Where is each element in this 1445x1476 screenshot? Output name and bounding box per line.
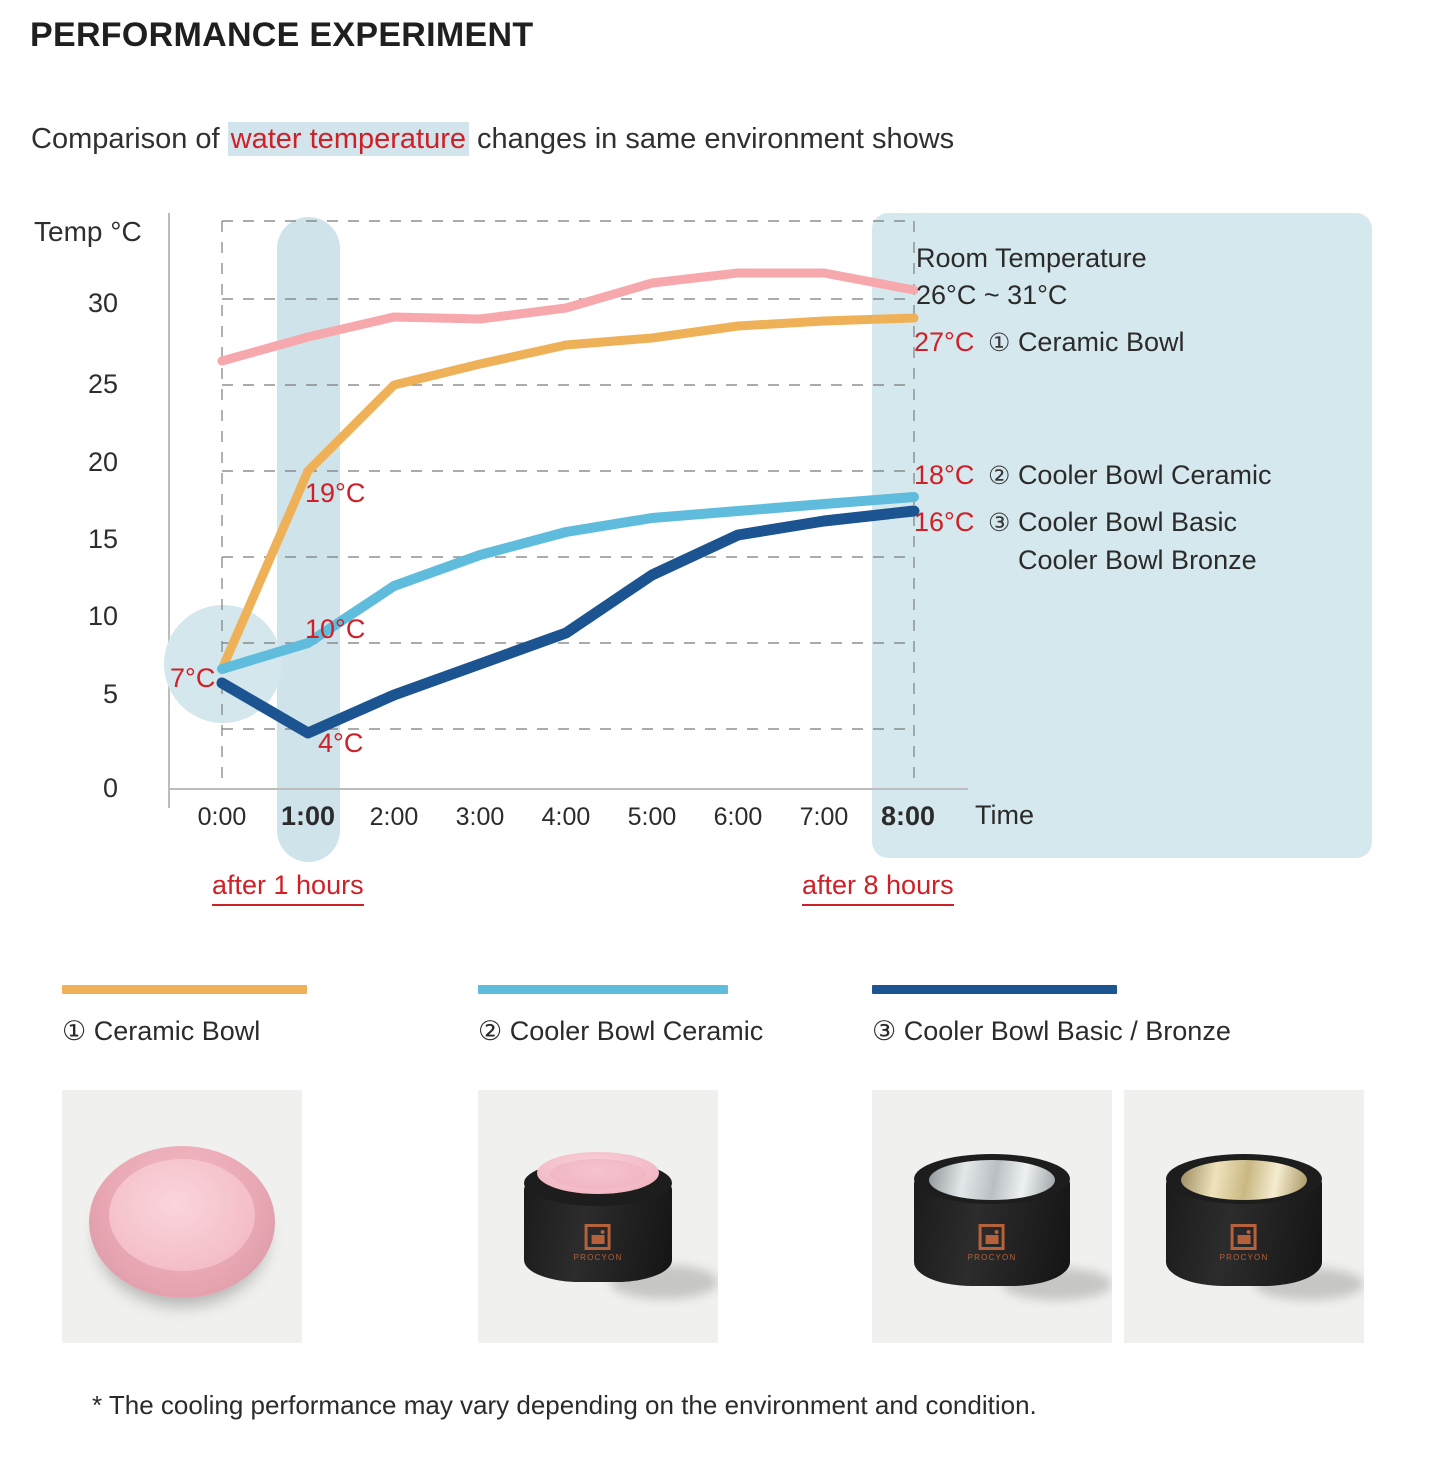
legend-item-ceramic-bowl: ① Ceramic Bowl	[62, 985, 307, 1047]
x-tick-1: 1:00	[268, 801, 348, 832]
chart-legend: ① Ceramic Bowl ② Cooler Bowl Ceramic ③ C…	[0, 975, 1445, 1065]
marker-circle-3: ③	[988, 508, 1010, 538]
cooler-bowl-basic-image: PROCYON	[872, 1090, 1112, 1343]
after-1-hours-label: after 1 hours	[212, 870, 364, 906]
room-temperature-range: 26°C ~ 31°C	[916, 280, 1067, 311]
cooler-bowl-bronze-image: PROCYON	[1124, 1090, 1364, 1343]
legend-swatch-cooler-bowl-ceramic	[478, 985, 728, 994]
x-tick-6: 6:00	[698, 803, 778, 832]
x-tick-5: 5:00	[612, 803, 692, 832]
product-photo-row: PROCYON PROCYON	[0, 1090, 1445, 1360]
x-axis-title: Time	[975, 800, 1034, 831]
endpoint-label-cooler-bronze: Cooler Bowl Bronze	[1018, 545, 1257, 576]
procyon-wordmark: PROCYON	[968, 1253, 1017, 1262]
endpoint-label-cooler-ceramic: ② Cooler Bowl Ceramic	[988, 460, 1272, 491]
photo-ceramic-bowl	[62, 1090, 302, 1343]
room-temperature-title: Room Temperature	[916, 243, 1147, 274]
callout-19c: 19°C	[305, 478, 365, 509]
marker-circle-1: ①	[988, 328, 1010, 358]
y-tick-10: 10	[58, 601, 118, 632]
endpoint-label-ceramic: ① Ceramic Bowl	[988, 327, 1184, 358]
x-tick-8: 8:00	[868, 801, 948, 832]
after-8-hours-label: after 8 hours	[802, 870, 954, 906]
footnote: * The cooling performance may vary depen…	[92, 1390, 1037, 1421]
legend-swatch-cooler-bowl-basic-bronze	[872, 985, 1117, 994]
y-tick-5: 5	[58, 679, 118, 710]
marker-circle-2: ②	[988, 461, 1010, 491]
y-axis-title: Temp °C	[34, 216, 142, 248]
callout-7c: 7°C	[170, 663, 215, 694]
procyon-wordmark: PROCYON	[1220, 1253, 1269, 1262]
procyon-mark-icon	[979, 1224, 1005, 1250]
x-tick-0: 0:00	[182, 803, 262, 832]
legend-label-cooler-bowl-ceramic: ② Cooler Bowl Ceramic	[478, 1016, 728, 1047]
procyon-wordmark: PROCYON	[574, 1253, 623, 1262]
ceramic-bowl-body	[89, 1146, 275, 1298]
endpoint-label-cooler-basic: ③ Cooler Bowl Basic	[988, 507, 1237, 538]
photo-cooler-bowl-ceramic: PROCYON	[478, 1090, 718, 1343]
legend-item-cooler-bowl-basic-bronze: ③ Cooler Bowl Basic / Bronze	[872, 985, 1117, 1047]
y-tick-30: 30	[58, 288, 118, 319]
procyon-mark-icon	[1231, 1224, 1257, 1250]
x-tick-3: 3:00	[440, 803, 520, 832]
x-tick-7: 7:00	[784, 803, 864, 832]
x-tick-4: 4:00	[526, 803, 606, 832]
y-tick-15: 15	[58, 524, 118, 555]
endpoint-value-cooler-ceramic: 18°C	[914, 460, 974, 491]
subtitle: Comparison of water temperature changes …	[31, 123, 954, 156]
y-tick-0: 0	[58, 773, 118, 804]
performance-experiment-infographic: PERFORMANCE EXPERIMENT Comparison of wat…	[0, 0, 1445, 1476]
procyon-logo-cooler-bronze: PROCYON	[1220, 1224, 1269, 1262]
procyon-mark-icon	[585, 1224, 611, 1250]
photo-cooler-bowl-bronze: PROCYON	[1124, 1090, 1364, 1343]
cooler-bowl-ceramic-image: PROCYON	[478, 1090, 718, 1343]
procyon-logo-cooler-ceramic: PROCYON	[574, 1224, 623, 1262]
temperature-line-chart: Temp °C 30 25 20 15 10 5 0	[0, 195, 1445, 875]
x-tick-2: 2:00	[354, 803, 434, 832]
ceramic-bowl-cavity	[109, 1159, 255, 1271]
endpoint-value-cooler-basic: 16°C	[914, 507, 974, 538]
cooler-ceramic-pink-cavity	[550, 1159, 646, 1189]
procyon-logo-cooler-basic: PROCYON	[968, 1224, 1017, 1262]
legend-swatch-ceramic-bowl	[62, 985, 307, 994]
legend-label-cooler-bowl-basic-bronze: ③ Cooler Bowl Basic / Bronze	[872, 1016, 1117, 1047]
endpoint-value-ceramic: 27°C	[914, 327, 974, 358]
y-tick-20: 20	[58, 447, 118, 478]
page-title: PERFORMANCE EXPERIMENT	[30, 16, 533, 55]
endpoint-label-cooler-basic-text: Cooler Bowl Basic	[1018, 507, 1237, 537]
y-tick-25: 25	[58, 369, 118, 400]
callout-4c: 4°C	[318, 728, 363, 759]
photo-cooler-bowl-basic: PROCYON	[872, 1090, 1112, 1343]
callout-10c: 10°C	[305, 614, 365, 645]
legend-item-cooler-bowl-ceramic: ② Cooler Bowl Ceramic	[478, 985, 728, 1047]
endpoint-label-ceramic-text: Ceramic Bowl	[1018, 327, 1185, 357]
subtitle-highlight: water temperature	[228, 122, 469, 156]
cooler-basic-steel-bowl	[929, 1160, 1055, 1200]
chart-plot-svg	[168, 213, 968, 791]
legend-label-ceramic-bowl: ① Ceramic Bowl	[62, 1016, 307, 1047]
subtitle-before: Comparison of	[31, 123, 228, 155]
subtitle-after: changes in same environment shows	[469, 123, 954, 155]
cooler-bronze-brass-bowl	[1181, 1160, 1307, 1200]
ceramic-bowl-image	[62, 1090, 302, 1343]
endpoint-label-cooler-ceramic-text: Cooler Bowl Ceramic	[1018, 460, 1272, 490]
